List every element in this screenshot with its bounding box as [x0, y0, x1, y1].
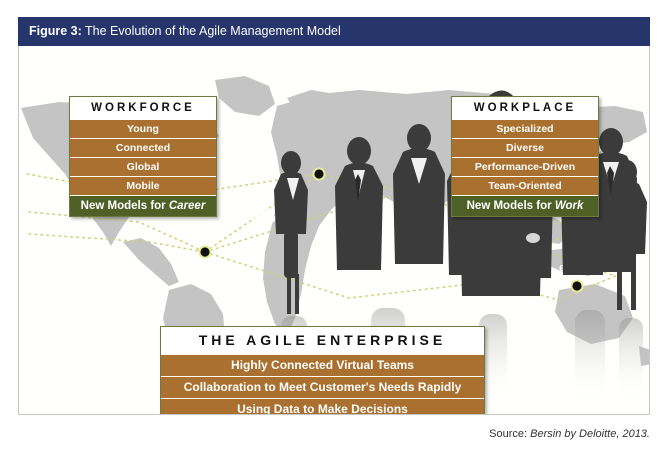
- figure-label: Figure 3:: [29, 24, 82, 38]
- panel-workforce-footer: New Models for Career: [70, 195, 216, 216]
- source-emphasis: Bersin by Deloitte, 2013.: [530, 428, 650, 440]
- panel-agile-heading: THE AGILE ENTERPRISE: [161, 327, 484, 354]
- panel-workforce-footer-emphasis: Career: [169, 200, 205, 212]
- panel-agile-row-3: Using Data to Make Decisions: [161, 398, 484, 415]
- panel-workplace-row-3: Performance-Driven: [452, 157, 598, 176]
- panel-workforce-row-1: Young: [70, 119, 216, 138]
- figure-container: Figure 3: The Evolution of the Agile Man…: [18, 17, 650, 415]
- panel-workforce-footer-prefix: New Models for: [81, 200, 169, 212]
- panel-agile-row-2: Collaboration to Meet Customer's Needs R…: [161, 376, 484, 398]
- panel-workplace-footer-prefix: New Models for: [467, 200, 555, 212]
- panel-workplace-heading: WORKPLACE: [452, 97, 598, 119]
- silhouette-r4: [605, 160, 647, 310]
- panel-workforce: WORKFORCE Young Connected Global Mobile …: [69, 96, 217, 217]
- source-caption: Source: Bersin by Deloitte, 2013.: [489, 428, 650, 440]
- figure-title: The Evolution of the Agile Management Mo…: [85, 24, 341, 38]
- figure-header: Figure 3: The Evolution of the Agile Man…: [18, 17, 650, 46]
- source-prefix: Source:: [489, 428, 530, 440]
- panel-agile-enterprise: THE AGILE ENTERPRISE Highly Connected Vi…: [160, 326, 485, 415]
- panel-workplace: WORKPLACE Specialized Diverse Performanc…: [451, 96, 599, 217]
- panel-workplace-row-4: Team-Oriented: [452, 176, 598, 195]
- panel-workforce-row-4: Mobile: [70, 176, 216, 195]
- panel-workplace-row-2: Diverse: [452, 138, 598, 157]
- panel-workplace-footer-emphasis: Work: [555, 200, 584, 212]
- panel-agile-row-1: Highly Connected Virtual Teams: [161, 354, 484, 376]
- panel-workforce-row-3: Global: [70, 157, 216, 176]
- panel-workforce-row-2: Connected: [70, 138, 216, 157]
- figure-body: Employee Pa er: [18, 46, 650, 415]
- panel-workplace-footer: New Models for Work: [452, 195, 598, 216]
- panel-workforce-heading: WORKFORCE: [70, 97, 216, 119]
- panel-workplace-row-1: Specialized: [452, 119, 598, 138]
